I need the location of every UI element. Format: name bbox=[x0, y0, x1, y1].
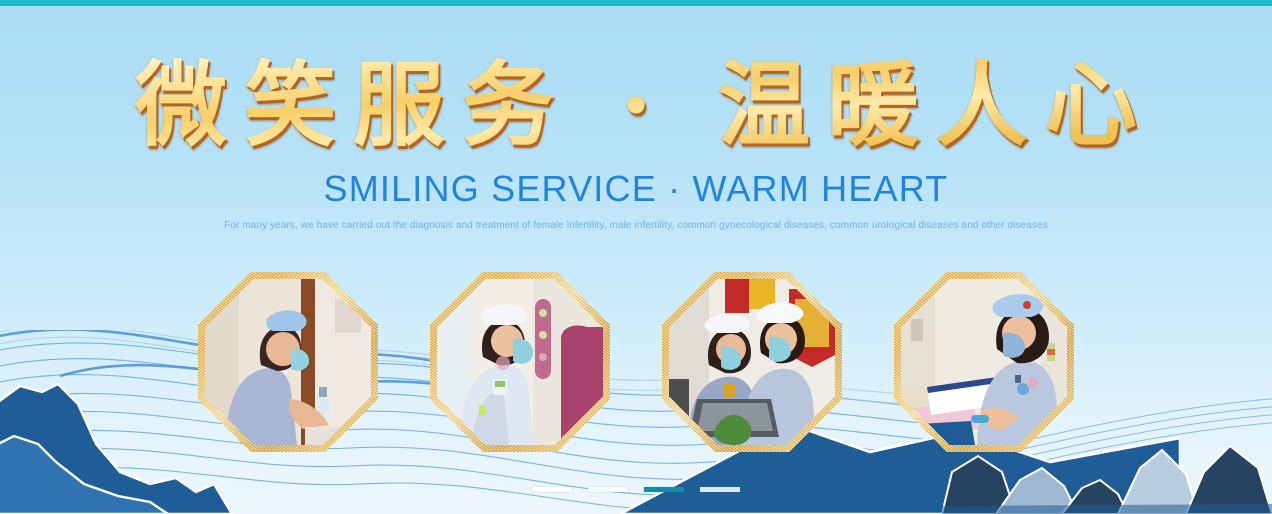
nurse-handwashing-image bbox=[205, 279, 371, 445]
photo-gallery bbox=[0, 272, 1272, 452]
carousel-indicators[interactable] bbox=[0, 487, 1272, 492]
photo-card-3[interactable] bbox=[662, 272, 842, 452]
headline-block: 微笑服务 · 温暖人心 SMILING SERVICE · WARM HEART… bbox=[0, 0, 1272, 231]
photo-card-4[interactable] bbox=[894, 272, 1074, 452]
top-accent-bar bbox=[0, 0, 1272, 6]
carousel-dot-4[interactable] bbox=[700, 487, 740, 492]
carousel-dot-3[interactable] bbox=[644, 487, 684, 492]
hero-banner: 微笑服务 · 温暖人心 SMILING SERVICE · WARM HEART… bbox=[0, 0, 1272, 514]
photo-card-1[interactable] bbox=[198, 272, 378, 452]
photo-thumbnail bbox=[437, 279, 603, 445]
carousel-dot-1[interactable] bbox=[532, 487, 572, 492]
photo-thumbnail bbox=[205, 279, 371, 445]
carousel-dot-2[interactable] bbox=[588, 487, 628, 492]
nurses-at-computer-image bbox=[669, 279, 835, 445]
nurse-beside-equipment-image bbox=[437, 279, 603, 445]
photo-thumbnail bbox=[669, 279, 835, 445]
page-subtitle: SMILING SERVICE · WARM HEART bbox=[0, 168, 1272, 210]
nurse-reading-chart-image bbox=[901, 279, 1067, 445]
page-title: 微笑服务 · 温暖人心 bbox=[0, 58, 1272, 154]
page-description: For many years, we have carried out the … bbox=[0, 220, 1272, 231]
photo-card-2[interactable] bbox=[430, 272, 610, 452]
photo-thumbnail bbox=[901, 279, 1067, 445]
